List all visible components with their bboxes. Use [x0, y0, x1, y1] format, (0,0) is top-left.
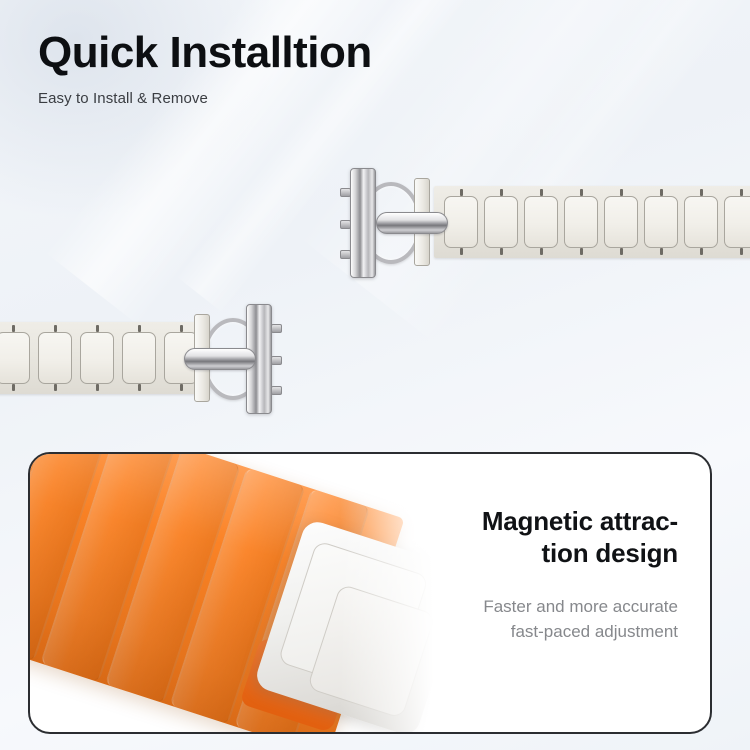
feature-card-text: Magnetic attrac- tion design Faster and …	[378, 506, 678, 644]
band-segment	[564, 196, 598, 248]
clasp-crossbar	[184, 348, 256, 370]
magnetic-clasp	[338, 164, 434, 282]
feature-subtitle: Faster and more accurate fast-paced adju…	[378, 595, 678, 643]
watch-band-illustration-bottom	[0, 296, 312, 418]
magnetic-clasp	[188, 300, 284, 418]
clasp-prong	[271, 386, 282, 395]
clasp-prong	[271, 324, 282, 333]
band-segment	[524, 196, 558, 248]
feature-title-line-2: tion design	[378, 538, 678, 570]
page-subtitle: Easy to Install & Remove	[38, 90, 372, 107]
band-segment	[122, 332, 156, 384]
header: Quick Installtion Easy to Install & Remo…	[38, 30, 372, 107]
band-segment	[38, 332, 72, 384]
feature-subtitle-line-1: Faster and more accurate	[378, 595, 678, 619]
clasp-crossbar	[376, 212, 448, 234]
band-segment	[724, 196, 750, 248]
feature-subtitle-line-2: fast-paced adjustment	[378, 620, 678, 644]
band-segment	[684, 196, 718, 248]
band-segment	[604, 196, 638, 248]
band-segment	[80, 332, 114, 384]
clasp-prong	[340, 220, 351, 229]
feature-card: Magnetic attrac- tion design Faster and …	[28, 452, 712, 734]
band-strap	[0, 322, 210, 394]
band-segment	[484, 196, 518, 248]
page-title: Quick Installtion	[38, 30, 372, 76]
clasp-prong	[271, 356, 282, 365]
band-segment	[444, 196, 478, 248]
feature-title-line-1: Magnetic attrac-	[378, 506, 678, 538]
clasp-prong	[340, 250, 351, 259]
band-segment	[644, 196, 678, 248]
product-feature-page: Quick Installtion Easy to Install & Remo…	[0, 0, 750, 750]
watch-band-illustration-top	[338, 160, 750, 290]
band-strap	[434, 186, 750, 258]
clasp-metal-bar	[350, 168, 376, 278]
band-segment	[0, 332, 30, 384]
clasp-prong	[340, 188, 351, 197]
feature-title: Magnetic attrac- tion design	[378, 506, 678, 569]
